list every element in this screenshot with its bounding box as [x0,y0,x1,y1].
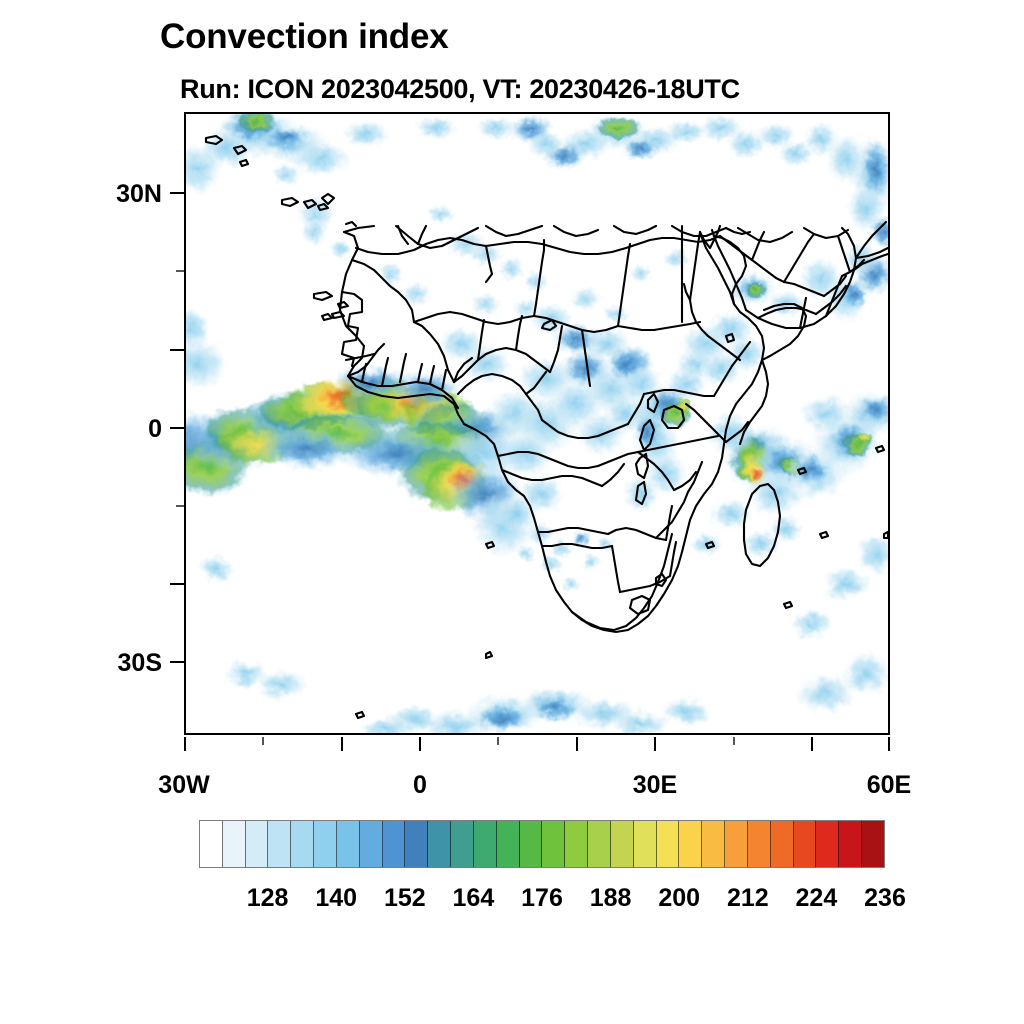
figure: Convection index Run: ICON 2023042500, V… [0,0,1024,1024]
colorbar[interactable] [199,820,885,868]
y-tick-30s [170,661,184,663]
colorbar-cell-20[interactable] [657,821,680,867]
map-panel[interactable] [184,112,890,735]
y-tick-10s [176,505,184,507]
colorbar-tick-224: 224 [796,884,838,913]
colorbar-cell-14[interactable] [520,821,543,867]
colorbar-cell-27[interactable] [816,821,839,867]
colorbar-cell-18[interactable] [611,821,634,867]
colorbar-cell-2[interactable] [246,821,269,867]
colorbar-cell-1[interactable] [223,821,246,867]
colorbar-cell-21[interactable] [679,821,702,867]
x-tick-30e [654,737,656,751]
colorbar-tick-200: 200 [658,884,700,913]
colorbar-tick-236: 236 [864,884,906,913]
colorbar-cell-7[interactable] [360,821,383,867]
map-canvas [186,114,888,733]
x-tick-20w [262,737,264,745]
colorbar-tick-188: 188 [590,884,632,913]
colorbar-cell-0[interactable] [200,821,223,867]
colorbar-cell-28[interactable] [839,821,862,867]
colorbar-tick-164: 164 [453,884,495,913]
x-axis-label-60e: 60E [839,771,939,800]
colorbar-gradient[interactable] [199,820,885,868]
y-tick-20n [176,270,184,272]
y-tick-10n [170,349,184,351]
colorbar-cell-5[interactable] [314,821,337,867]
colorbar-tick-140: 140 [315,884,357,913]
y-tick-30n [170,192,184,194]
colorbar-tick-128: 128 [247,884,289,913]
colorbar-cell-10[interactable] [428,821,451,867]
x-tick-10e [497,737,499,745]
x-tick-50e [811,737,813,751]
colorbar-cell-22[interactable] [702,821,725,867]
colorbar-tick-labels: 128140152164176188200212224236 [199,884,885,918]
y-axis-label-30s: 30S [100,649,162,678]
colorbar-cell-13[interactable] [497,821,520,867]
colorbar-cell-26[interactable] [794,821,817,867]
colorbar-cell-17[interactable] [588,821,611,867]
colorbar-tick-176: 176 [521,884,563,913]
x-axis-label-0: 0 [370,771,470,800]
x-tick-20e [576,737,578,751]
x-tick-30w [184,737,186,751]
colorbar-tick-152: 152 [384,884,426,913]
colorbar-tick-212: 212 [727,884,769,913]
colorbar-cell-16[interactable] [565,821,588,867]
y-tick-0 [170,427,184,429]
y-tick-20s [170,583,184,585]
x-axis-label-30e: 30E [605,771,705,800]
y-axis-label-0: 0 [100,415,162,444]
colorbar-cell-24[interactable] [748,821,771,867]
x-axis-label-30w: 30W [134,771,234,800]
colorbar-cell-19[interactable] [634,821,657,867]
colorbar-cell-29[interactable] [862,821,884,867]
colorbar-cell-25[interactable] [771,821,794,867]
colorbar-cell-8[interactable] [383,821,406,867]
figure-subtitle: Run: ICON 2023042500, VT: 20230426-18UTC [180,74,740,105]
x-tick-40e [733,737,735,745]
colorbar-cell-11[interactable] [451,821,474,867]
x-tick-0 [419,737,421,751]
x-tick-60e [888,737,890,751]
colorbar-cell-6[interactable] [337,821,360,867]
colorbar-cell-9[interactable] [405,821,428,867]
page-title: Convection index [160,17,449,57]
colorbar-cell-23[interactable] [725,821,748,867]
colorbar-cell-3[interactable] [268,821,291,867]
colorbar-cell-4[interactable] [291,821,314,867]
y-axis-label-30n: 30N [100,180,162,209]
colorbar-cell-15[interactable] [542,821,565,867]
colorbar-cell-12[interactable] [474,821,497,867]
x-tick-10w [341,737,343,751]
